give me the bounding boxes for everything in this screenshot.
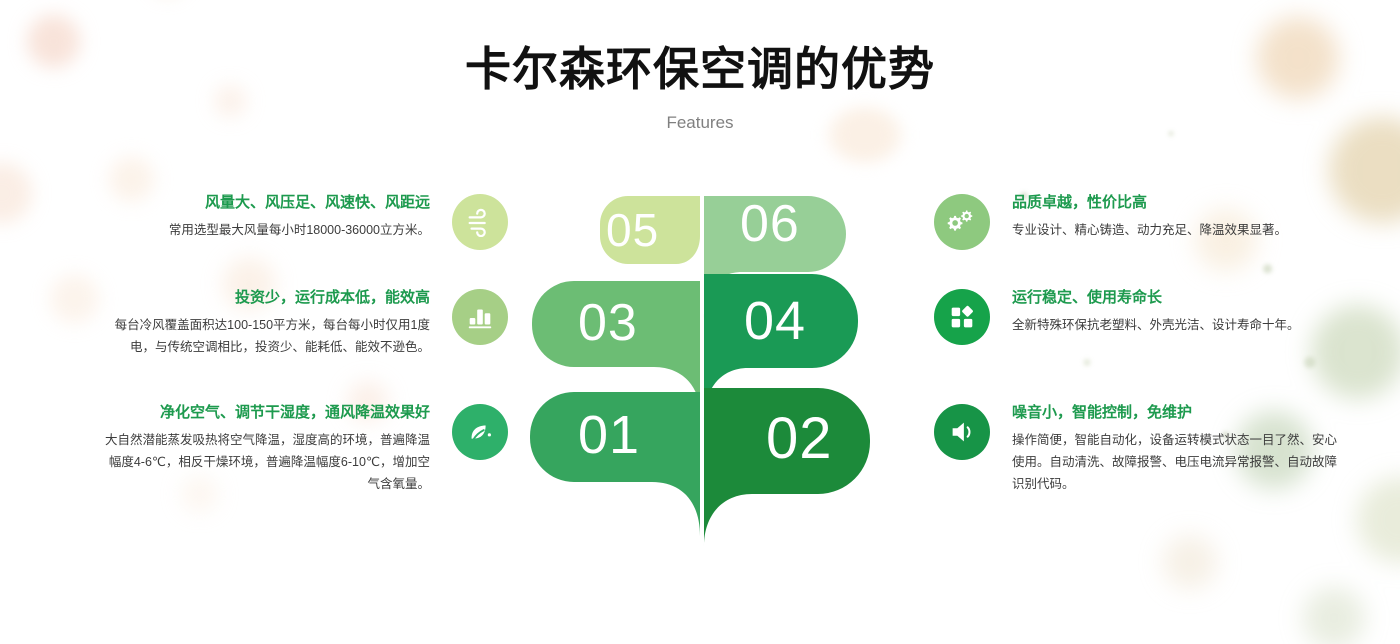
feature-block-01[interactable]: 净化空气、调节干湿度，通风降温效果好 大自然潜能蒸发吸热将空气降温，湿度高的环境…: [88, 402, 508, 496]
feature-heading-03: 投资少，运行成本低，能效高: [100, 287, 430, 308]
feature-block-04[interactable]: 运行稳定、使用寿命长 全新特殊环保抗老塑料、外壳光洁、设计寿命十年。: [934, 287, 1354, 345]
wind-icon[interactable]: [452, 194, 508, 250]
feature-desc-04: 全新特殊环保抗老塑料、外壳光洁、设计寿命十年。: [1012, 315, 1342, 337]
feature-text-02: 噪音小，智能控制，免维护 操作简便，智能自动化，设备运转模式状态一目了然、安心使…: [1012, 402, 1342, 496]
infographic-page: 卡尔森环保空调的优势 Features 05 06 03 04 01 02 风量…: [0, 0, 1400, 644]
feature-heading-01: 净化空气、调节干湿度，通风降温效果好: [100, 402, 430, 423]
leaf-shape-02[interactable]: [704, 388, 870, 546]
eco-leaf-icon[interactable]: [452, 404, 508, 460]
feature-text-01: 净化空气、调节干湿度，通风降温效果好 大自然潜能蒸发吸热将空气降温，湿度高的环境…: [100, 402, 430, 496]
feature-text-03: 投资少，运行成本低，能效高 每台冷风覆盖面积达100-150平方米，每台每小时仅…: [100, 287, 430, 359]
feature-heading-05: 风量大、风压足、风速快、风距远: [100, 192, 430, 213]
feature-block-03[interactable]: 投资少，运行成本低，能效高 每台冷风覆盖面积达100-150平方米，每台每小时仅…: [88, 287, 508, 359]
feature-text-06: 品质卓越，性价比高 专业设计、精心铸造、动力充足、降温效果显著。: [1012, 192, 1342, 242]
grid-diamond-icon[interactable]: [934, 289, 990, 345]
feature-heading-04: 运行稳定、使用寿命长: [1012, 287, 1342, 308]
feature-desc-01: 大自然潜能蒸发吸热将空气降温，湿度高的环境，普遍降温幅度4-6℃，相反干燥环境，…: [100, 430, 430, 496]
feature-block-02[interactable]: 噪音小，智能控制，免维护 操作简便，智能自动化，设备运转模式状态一目了然、安心使…: [934, 402, 1354, 496]
bar-chart-icon[interactable]: [452, 289, 508, 345]
feature-desc-06: 专业设计、精心铸造、动力充足、降温效果显著。: [1012, 220, 1342, 242]
feature-block-05[interactable]: 风量大、风压足、风速快、风距远 常用选型最大风量每小时18000-36000立方…: [88, 192, 508, 250]
feature-text-05: 风量大、风压足、风速快、风距远 常用选型最大风量每小时18000-36000立方…: [100, 192, 430, 242]
feature-block-06[interactable]: 品质卓越，性价比高 专业设计、精心铸造、动力充足、降温效果显著。: [934, 192, 1354, 250]
leaf-shape-01[interactable]: [530, 392, 700, 536]
feature-text-04: 运行稳定、使用寿命长 全新特殊环保抗老塑料、外壳光洁、设计寿命十年。: [1012, 287, 1342, 337]
feature-heading-06: 品质卓越，性价比高: [1012, 192, 1342, 213]
speaker-icon[interactable]: [934, 404, 990, 460]
feature-desc-03: 每台冷风覆盖面积达100-150平方米，每台每小时仅用1度电，与传统空调相比，投…: [100, 315, 430, 359]
feature-desc-05: 常用选型最大风量每小时18000-36000立方米。: [100, 220, 430, 242]
gears-icon[interactable]: [934, 194, 990, 250]
leaf-shape-05[interactable]: [600, 196, 700, 264]
feature-heading-02: 噪音小，智能控制，免维护: [1012, 402, 1342, 423]
feature-desc-02: 操作简便，智能自动化，设备运转模式状态一目了然、安心使用。自动清洗、故障报警、电…: [1012, 430, 1342, 496]
